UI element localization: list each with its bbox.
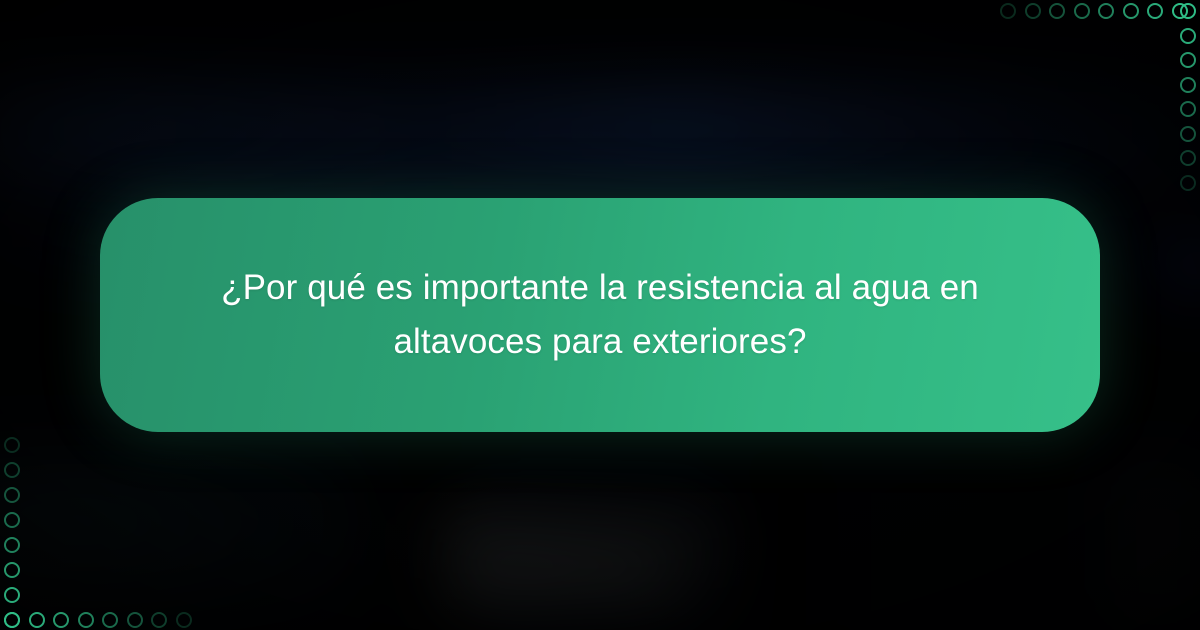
bottom-left-row-dot bbox=[53, 612, 69, 628]
bottom-left-row-dot bbox=[127, 612, 143, 628]
bottom-left-row-dot bbox=[78, 612, 94, 628]
bottom-left-col-dot bbox=[4, 512, 20, 528]
bottom-left-col-dot bbox=[4, 587, 20, 603]
question-line-1: ¿Por qué es importante la resistencia al… bbox=[221, 268, 930, 307]
top-right-row-dot bbox=[1000, 3, 1016, 19]
top-right-col-dot bbox=[1180, 150, 1196, 166]
top-right-row-dot bbox=[1147, 3, 1163, 19]
top-right-col-dot bbox=[1180, 28, 1196, 44]
question-card: ¿Por qué es importante la resistencia al… bbox=[100, 198, 1100, 432]
bottom-left-col-dot bbox=[4, 562, 20, 578]
question-text: ¿Por qué es importante la resistencia al… bbox=[190, 261, 1010, 370]
bottom-left-row-dot bbox=[176, 612, 192, 628]
top-right-col-dot bbox=[1180, 52, 1196, 68]
top-right-col-dot bbox=[1180, 126, 1196, 142]
bottom-left-row-dot bbox=[29, 612, 45, 628]
top-right-col-dot bbox=[1180, 101, 1196, 117]
bottom-left-col-dot bbox=[4, 487, 20, 503]
top-right-row-dot bbox=[1123, 3, 1139, 19]
top-right-row-dot bbox=[1074, 3, 1090, 19]
top-right-col-dot bbox=[1180, 3, 1196, 19]
bottom-left-col-dot bbox=[4, 462, 20, 478]
bottom-left-row-dot bbox=[151, 612, 167, 628]
bottom-left-col-dot bbox=[4, 437, 20, 453]
bottom-left-col-dot bbox=[4, 537, 20, 553]
top-right-row-dot bbox=[1098, 3, 1114, 19]
bottom-left-row-dot bbox=[4, 612, 20, 628]
promo-card-canvas: ¿Por qué es importante la resistencia al… bbox=[0, 0, 1200, 630]
top-right-row-dot bbox=[1025, 3, 1041, 19]
top-right-col-dot bbox=[1180, 77, 1196, 93]
top-right-col-dot bbox=[1180, 175, 1196, 191]
top-right-row-dot bbox=[1049, 3, 1065, 19]
bottom-left-row-dot bbox=[102, 612, 118, 628]
